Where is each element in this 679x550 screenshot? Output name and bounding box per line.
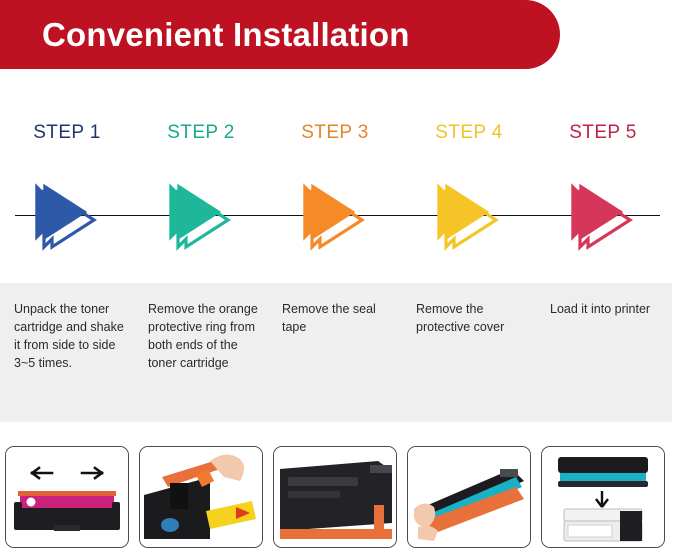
step-col-3: STEP 3 xyxy=(268,122,402,144)
desc-cell-2: Remove the orange protective ring from b… xyxy=(134,283,268,422)
step-description-2: Remove the orange protective ring from b… xyxy=(148,300,258,372)
step-label-1: STEP 1 xyxy=(33,122,101,144)
arrow-row xyxy=(0,170,679,262)
photo-cell-2 xyxy=(134,446,268,550)
arrow-cell-4 xyxy=(402,170,536,262)
photo-remove-orange-ring xyxy=(139,446,263,548)
double-chevron-right-icon xyxy=(296,177,374,255)
photo-cell-3 xyxy=(268,446,402,550)
desc-cell-3: Remove the seal tape xyxy=(268,283,402,422)
desc-cell-5: Load it into printer xyxy=(536,283,670,422)
step-description-band: Unpack the toner cartridge and shake it … xyxy=(0,283,672,422)
photo-cell-4 xyxy=(402,446,536,550)
double-chevron-right-icon xyxy=(28,177,106,255)
desc-cell-4: Remove the protective cover xyxy=(402,283,536,422)
photo-shake-cartridge xyxy=(5,446,129,548)
step-label-2: STEP 2 xyxy=(167,122,235,144)
arrow-cell-5 xyxy=(536,170,670,262)
double-chevron-right-icon xyxy=(564,177,642,255)
step-col-2: STEP 2 xyxy=(134,122,268,144)
step-col-1: STEP 1 xyxy=(0,122,134,144)
photo-remove-seal-tape xyxy=(273,446,397,548)
step-arrow-icon-2 xyxy=(162,177,240,255)
photo-strip xyxy=(0,446,679,550)
photo-cell-5 xyxy=(536,446,670,550)
step-col-5: STEP 5 xyxy=(536,122,670,144)
step-arrow-icon-5 xyxy=(564,177,642,255)
photo-cell-1 xyxy=(0,446,134,550)
desc-cell-1: Unpack the toner cartridge and shake it … xyxy=(0,283,134,422)
step-label-5: STEP 5 xyxy=(569,122,637,144)
step-description-3: Remove the seal tape xyxy=(282,300,392,336)
arrow-cell-3 xyxy=(268,170,402,262)
step-arrow-icon-4 xyxy=(430,177,508,255)
header-banner: Convenient Installation xyxy=(0,0,560,69)
photo-remove-protective-cover xyxy=(407,446,531,548)
step-label-3: STEP 3 xyxy=(301,122,369,144)
step-description-4: Remove the protective cover xyxy=(416,300,526,336)
step-arrow-icon-1 xyxy=(28,177,106,255)
double-chevron-right-icon xyxy=(430,177,508,255)
photo-load-into-printer xyxy=(541,446,665,548)
step-arrow-icon-3 xyxy=(296,177,374,255)
arrow-timeline-band xyxy=(0,170,679,262)
arrow-cell-2 xyxy=(134,170,268,262)
double-chevron-right-icon xyxy=(162,177,240,255)
step-label-4: STEP 4 xyxy=(435,122,503,144)
step-description-5: Load it into printer xyxy=(550,300,660,318)
arrow-cell-1 xyxy=(0,170,134,262)
step-description-1: Unpack the toner cartridge and shake it … xyxy=(14,300,124,372)
step-col-4: STEP 4 xyxy=(402,122,536,144)
step-label-row: STEP 1 STEP 2 STEP 3 STEP 4 STEP 5 xyxy=(0,122,679,144)
page-title: Convenient Installation xyxy=(42,16,410,54)
